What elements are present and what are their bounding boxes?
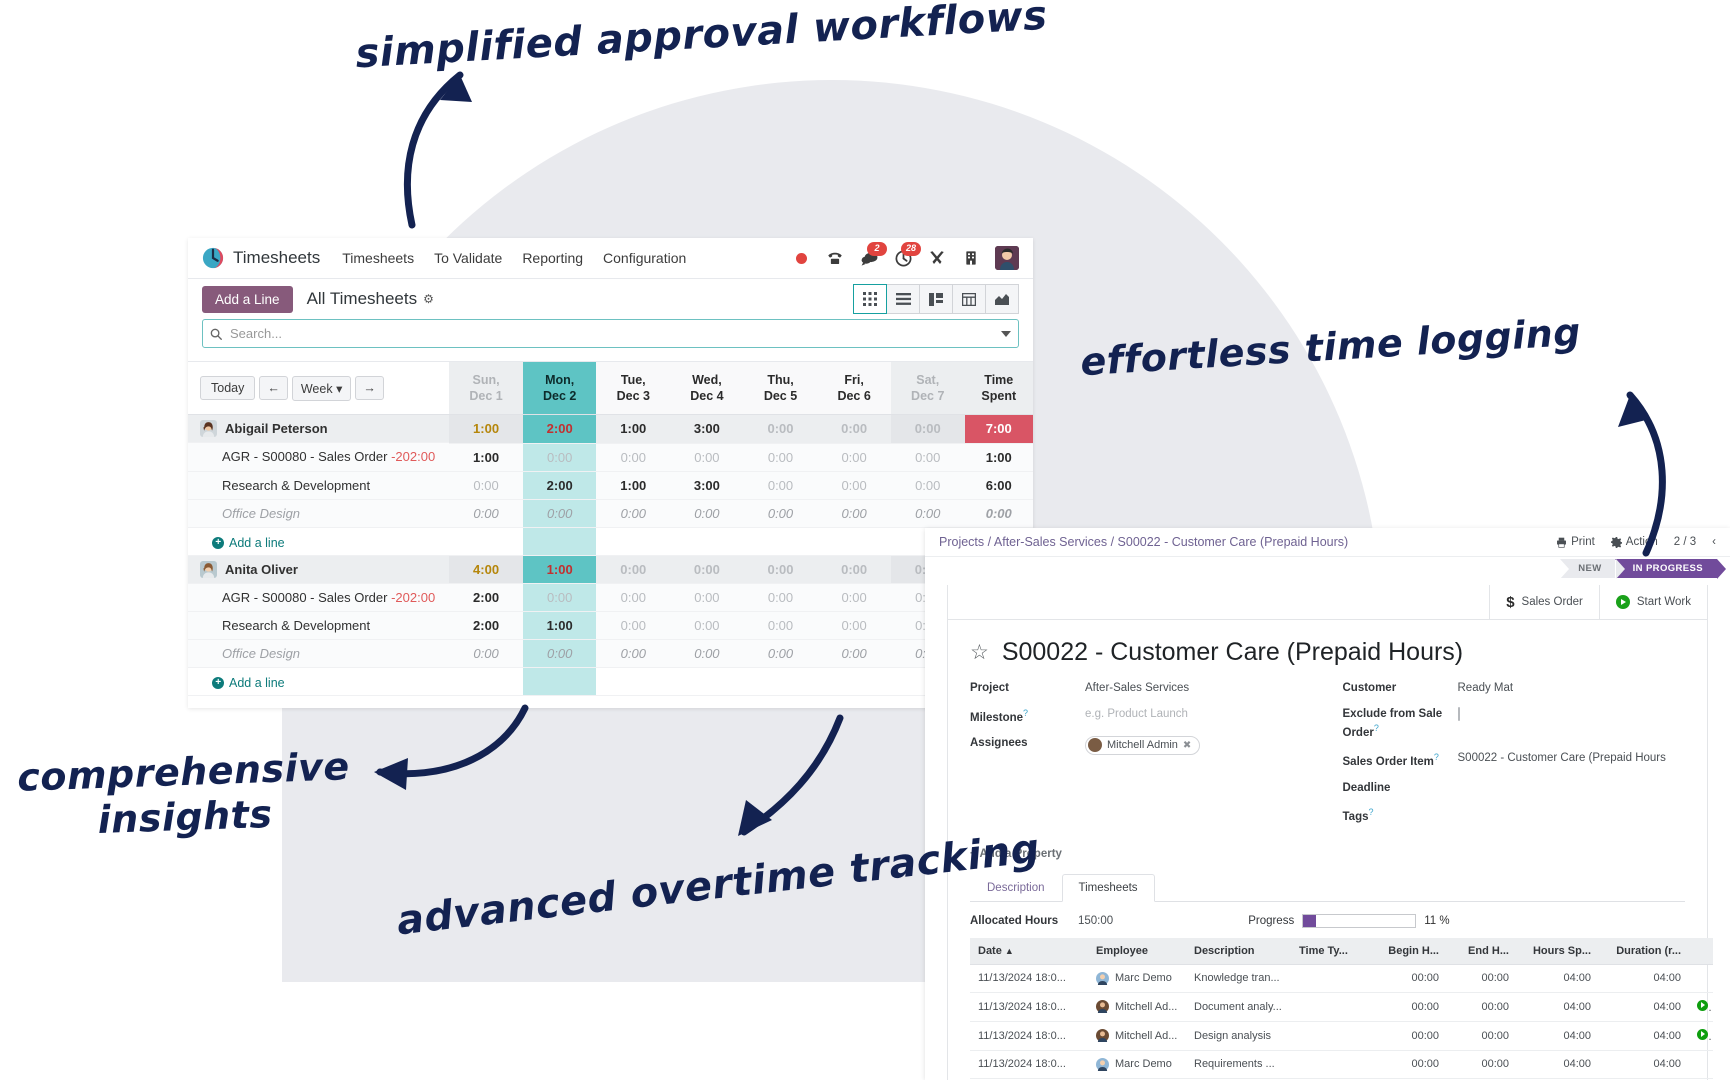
cell-end-hour[interactable]: 00:00 <box>1447 1021 1517 1050</box>
grid-task-row[interactable]: AGR - S00080 - Sales Order -202:002:000:… <box>188 584 1033 612</box>
cell-begin-hour[interactable]: 00:00 <box>1369 964 1447 992</box>
user-avatar-icon[interactable] <box>995 246 1019 270</box>
grid-empty-cell <box>670 527 744 555</box>
column-header-thu[interactable]: Thu,Dec 5 <box>744 362 818 415</box>
phone-dialpad-icon[interactable] <box>825 248 845 268</box>
grid-hours-cell[interactable]: 0:00 <box>744 640 818 668</box>
task-remaining-hours: -202:00 <box>391 449 435 464</box>
pager-previous-icon[interactable]: ‹ <box>1712 536 1716 548</box>
timesheet-col-header[interactable]: End H... <box>1447 938 1517 965</box>
cell-duration[interactable]: 04:00 <box>1599 992 1689 1021</box>
chat-bubble-icon[interactable]: 2 <box>859 248 879 268</box>
grid-hours-cell[interactable]: 0:00 <box>817 443 891 471</box>
start-work-label: Start Work <box>1637 596 1691 608</box>
timesheet-col-header[interactable]: Hours Sp... <box>1517 938 1599 965</box>
field-label-sales-order-item: Sales Order Item? <box>1343 751 1458 770</box>
grid-hours-cell[interactable]: 0:00 <box>449 499 523 527</box>
cell-description[interactable]: Knowledge tran... <box>1186 964 1291 992</box>
grid-hours-cell[interactable]: 0:00 <box>817 471 891 499</box>
grid-hours-cell[interactable]: 1:00 <box>449 415 523 444</box>
grid-hours-cell[interactable]: 0:00 <box>817 499 891 527</box>
building-icon[interactable] <box>961 248 981 268</box>
grid-empty-cell <box>523 527 597 555</box>
cell-time-type[interactable] <box>1291 992 1369 1021</box>
sales-order-button[interactable]: $ Sales Order <box>1489 585 1599 619</box>
employee-avatar-icon <box>1096 1000 1109 1013</box>
cell-time-type[interactable] <box>1291 1050 1369 1078</box>
list-view-button[interactable] <box>887 284 920 314</box>
form-sheet: $ Sales Order Start Work ☆ S00022 - Cust… <box>947 585 1708 1080</box>
field-label-project: Project <box>970 681 1085 697</box>
cell-end-hour[interactable]: 00:00 <box>1447 1050 1517 1078</box>
grid-empty-cell <box>523 668 597 696</box>
grid-hours-cell[interactable]: 0:00 <box>523 499 597 527</box>
nav-item-to-validate[interactable]: To Validate <box>434 250 502 266</box>
grid-hours-cell[interactable]: 3:00 <box>670 471 744 499</box>
column-header-fri[interactable]: Fri,Dec 6 <box>817 362 891 415</box>
assignee-tag[interactable]: Mitchell Admin ✖ <box>1085 736 1200 755</box>
grid-empty-cell <box>817 668 891 696</box>
grid-empty-cell <box>596 527 670 555</box>
grid-empty-cell <box>449 527 523 555</box>
nav-item-configuration[interactable]: Configuration <box>603 250 686 266</box>
grid-task-row[interactable]: AGR - S00080 - Sales Order -202:001:000:… <box>188 443 1033 471</box>
grid-hours-cell[interactable]: 0:00 <box>596 555 670 584</box>
grid-hours-cell[interactable]: 4:00 <box>449 555 523 584</box>
grid-hours-cell[interactable]: 0:00 <box>817 415 891 444</box>
activity-clock-icon[interactable]: 28 <box>893 248 913 268</box>
grid-total-cell: 1:00 <box>965 443 1033 471</box>
timesheet-col-header[interactable]: Date▲ <box>970 938 1088 965</box>
grid-add-a-line-row[interactable]: +Add a line <box>188 527 1033 555</box>
allocated-hours-value[interactable]: 150:00 <box>1078 915 1113 927</box>
help-icon[interactable]: ? <box>1374 723 1379 733</box>
nav-item-reporting[interactable]: Reporting <box>522 250 583 266</box>
start-work-button[interactable]: Start Work <box>1599 585 1707 619</box>
table-row[interactable]: 11/13/2024 18:0...Marc DemoRequirements … <box>970 1050 1713 1078</box>
grid-total-cell: 7:00 <box>965 415 1033 444</box>
timesheet-col-header[interactable] <box>1689 938 1713 965</box>
control-panel: Add a Line All Timesheets ⚙ <box>188 279 1033 319</box>
print-label: Print <box>1571 536 1595 548</box>
cell-end-hour[interactable]: 00:00 <box>1447 992 1517 1021</box>
annotation-comprehensive-insights: comprehensive insights <box>17 744 352 845</box>
page-title: S00022 - Customer Care (Prepaid Hours) <box>1002 638 1463 667</box>
grid-total-cell: 6:00 <box>965 471 1033 499</box>
grid-employee-name-cell[interactable]: Abigail Peterson <box>188 415 449 443</box>
progress-label: Progress <box>1248 915 1294 927</box>
grid-task-name-cell[interactable]: AGR - S00080 - Sales Order -202:00 <box>188 443 449 471</box>
cell-end-hour[interactable]: 00:00 <box>1447 964 1517 992</box>
app-brand-name: Timesheets <box>233 248 320 268</box>
favorite-star-icon[interactable]: ☆ <box>970 642 989 663</box>
cell-date[interactable]: 11/13/2024 18:0... <box>970 992 1088 1021</box>
grid-total-cell: 0:00 <box>965 499 1033 527</box>
exclude-checkbox[interactable] <box>1458 707 1460 721</box>
grid-hours-cell[interactable]: 0:00 <box>891 471 965 499</box>
sales-order-label: Sales Order <box>1522 596 1583 608</box>
help-icon[interactable]: ? <box>1369 807 1374 817</box>
arrow-to-time-logging <box>1600 385 1710 565</box>
grid-hours-cell[interactable]: 0:00 <box>670 640 744 668</box>
cell-begin-hour[interactable]: 00:00 <box>1369 992 1447 1021</box>
timesheet-col-header[interactable]: Time Ty... <box>1291 938 1369 965</box>
cell-timer[interactable] <box>1689 1050 1713 1078</box>
field-label-deadline: Deadline <box>1343 781 1458 797</box>
grid-hours-cell[interactable]: 3:00 <box>670 415 744 444</box>
field-label-exclude-from-sale-order: Exclude from Sale Order? <box>1343 707 1458 742</box>
employee-avatar-icon <box>1096 1058 1109 1071</box>
timesheet-col-header[interactable]: Description <box>1186 938 1291 965</box>
odoo-timesheets-logo-icon <box>202 247 224 269</box>
grid-hours-cell[interactable]: 1:00 <box>523 612 597 640</box>
grid-task-row[interactable]: Office Design0:000:000:000:000:000:000:0… <box>188 499 1033 527</box>
gear-icon[interactable]: ⚙ <box>423 292 434 306</box>
field-exclude-from-sale-order: Exclude from Sale Order? <box>1343 707 1686 742</box>
tab-timesheets[interactable]: Timesheets <box>1062 874 1155 902</box>
record-dot-icon[interactable] <box>791 248 811 268</box>
cell-description[interactable]: Design analysis <box>1186 1021 1291 1050</box>
task-name: Office Design <box>222 646 300 661</box>
cell-begin-hour[interactable]: 00:00 <box>1369 1050 1447 1078</box>
dollar-icon: $ <box>1506 594 1514 611</box>
cell-description[interactable]: Document analy... <box>1186 992 1291 1021</box>
grid-task-name-cell[interactable]: AGR - S00080 - Sales Order -202:00 <box>188 584 449 612</box>
grid-hours-cell[interactable]: 0:00 <box>670 555 744 584</box>
allocated-hours-row: Allocated Hours 150:00 Progress 11 % <box>970 902 1685 938</box>
nav-item-timesheets[interactable]: Timesheets <box>342 250 414 266</box>
employee-avatar-icon <box>1096 1029 1109 1042</box>
grid-hours-cell[interactable]: 0:00 <box>744 443 818 471</box>
search-icon <box>210 328 222 340</box>
cell-employee[interactable]: Marc Demo <box>1088 964 1186 992</box>
grid-hours-cell[interactable]: 1:00 <box>449 443 523 471</box>
employee-avatar-icon <box>1096 972 1109 985</box>
grid-hours-cell[interactable]: 0:00 <box>744 471 818 499</box>
grid-hours-cell[interactable]: 0:00 <box>523 640 597 668</box>
task-name: Research & Development <box>222 478 370 493</box>
grid-view-button[interactable] <box>853 284 887 314</box>
grid-hours-cell[interactable]: 0:00 <box>596 443 670 471</box>
grid-empty-cell <box>596 668 670 696</box>
activity-badge-count: 28 <box>901 242 921 256</box>
task-remaining-hours: -202:00 <box>391 590 435 605</box>
grid-hours-cell[interactable]: 0:00 <box>744 415 818 444</box>
project-form-window: Projects / After-Sales Services / S00022… <box>925 528 1730 1080</box>
kanban-view-button[interactable] <box>920 284 953 314</box>
cell-employee[interactable]: Marc Demo <box>1088 1050 1186 1078</box>
chat-badge-count: 2 <box>867 242 887 256</box>
cell-employee[interactable]: Mitchell Ad... <box>1088 1021 1186 1050</box>
grid-hours-cell[interactable]: 0:00 <box>449 640 523 668</box>
allocated-hours-label: Allocated Hours <box>970 915 1078 927</box>
progress-bar <box>1302 914 1416 928</box>
play-icon[interactable] <box>1697 1029 1708 1040</box>
cell-date[interactable]: 11/13/2024 18:0... <box>970 964 1088 992</box>
grid-hours-cell[interactable]: 0:00 <box>670 612 744 640</box>
add-a-line-button[interactable]: Add a Line <box>202 286 293 313</box>
cell-date[interactable]: 11/13/2024 18:0... <box>970 1050 1088 1078</box>
field-customer: Customer Ready Mat <box>1343 681 1686 697</box>
employee-name: Anita Oliver <box>225 562 298 577</box>
column-header-tue[interactable]: Tue,Dec 3 <box>596 362 670 415</box>
grid-hours-cell[interactable]: 0:00 <box>817 584 891 612</box>
timesheet-col-header[interactable]: Employee <box>1088 938 1186 965</box>
grid-add-a-line-row[interactable]: +Add a line <box>188 668 1033 696</box>
field-assignees: Assignees Mitchell Admin ✖ <box>970 736 1313 758</box>
field-value-project[interactable]: After-Sales Services <box>1085 681 1189 697</box>
grid-task-name-cell[interactable]: Office Design <box>188 640 449 668</box>
timesheet-grid: Today ← Week ▾ → Sun,Dec 1 Mon,Dec 2 Tue… <box>188 361 1033 696</box>
column-header-time-spent: TimeSpent <box>965 362 1033 415</box>
grid-hours-cell[interactable]: 0:00 <box>670 443 744 471</box>
add-a-line-link[interactable]: +Add a line <box>200 536 285 550</box>
grid-task-row[interactable]: Office Design0:000:000:000:000:000:000:0… <box>188 640 1033 668</box>
task-name: AGR - S00080 - Sales Order <box>222 590 387 605</box>
column-header-mon[interactable]: Mon,Dec 2 <box>523 362 597 415</box>
previous-period-button[interactable]: ← <box>259 376 288 400</box>
table-row[interactable]: 11/13/2024 18:0...Mitchell Ad...Design a… <box>970 1021 1713 1050</box>
graph-view-button[interactable] <box>986 284 1019 314</box>
period-scale-dropdown[interactable]: Week ▾ <box>292 376 351 401</box>
field-deadline: Deadline <box>1343 781 1686 797</box>
cell-date[interactable]: 11/13/2024 18:0... <box>970 1021 1088 1050</box>
arrow-to-insights <box>360 700 540 810</box>
cell-duration[interactable]: 04:00 <box>1599 964 1689 992</box>
task-name: AGR - S00080 - Sales Order <box>222 449 387 464</box>
grid-employee-row[interactable]: Anita Oliver4:001:000:000:000:000:000:00 <box>188 555 1033 584</box>
field-value-exclude[interactable] <box>1458 707 1460 723</box>
column-header-sat[interactable]: Sat,Dec 7 <box>891 362 965 415</box>
grid-hours-cell[interactable]: 1:00 <box>596 471 670 499</box>
timesheets-window: Timesheets Timesheets To Validate Report… <box>188 238 1033 708</box>
cell-timer[interactable] <box>1689 964 1713 992</box>
grid-hours-cell[interactable]: 0:00 <box>891 415 965 444</box>
remove-tag-icon[interactable]: ✖ <box>1183 739 1191 753</box>
grid-empty-cell <box>817 527 891 555</box>
cell-employee[interactable]: Mitchell Ad... <box>1088 992 1186 1021</box>
task-name: Office Design <box>222 506 300 521</box>
field-value-assignees[interactable]: Mitchell Admin ✖ <box>1085 736 1200 758</box>
grid-hours-cell[interactable]: 0:00 <box>523 584 597 612</box>
notebook-tabs: Description Timesheets <box>970 874 1685 902</box>
search-input[interactable] <box>228 325 1001 342</box>
field-label-assignees: Assignees <box>970 736 1085 752</box>
table-row[interactable]: 11/13/2024 18:0...Mitchell Ad...Document… <box>970 992 1713 1021</box>
grid-hours-cell[interactable]: 0:00 <box>817 612 891 640</box>
cell-time-type[interactable] <box>1291 964 1369 992</box>
field-label-tags: Tags? <box>1343 806 1458 825</box>
cell-hours-spent[interactable]: 04:00 <box>1517 964 1599 992</box>
form-body: ☆ S00022 - Customer Care (Prepaid Hours)… <box>948 620 1707 1080</box>
column-header-sun[interactable]: Sun,Dec 1 <box>449 362 523 415</box>
cell-timer[interactable] <box>1689 1021 1713 1050</box>
grid-hours-cell[interactable]: 0:00 <box>596 640 670 668</box>
timesheet-col-header[interactable]: Begin H... <box>1369 938 1447 965</box>
grid-add-a-line-cell[interactable]: +Add a line <box>188 668 449 696</box>
grid-hours-cell[interactable]: 2:00 <box>449 612 523 640</box>
grid-hours-cell[interactable]: 0:00 <box>670 584 744 612</box>
field-value-sales-order-item[interactable]: S00022 - Customer Care (Prepaid Hours <box>1458 751 1666 767</box>
sort-ascending-icon: ▲ <box>1005 946 1014 956</box>
tools-icon[interactable] <box>927 248 947 268</box>
grid-header-row: Today ← Week ▾ → Sun,Dec 1 Mon,Dec 2 Tue… <box>188 362 1033 415</box>
arrow-to-overtime <box>700 710 860 860</box>
grid-hours-cell[interactable]: 0:00 <box>744 584 818 612</box>
plus-circle-icon: + <box>212 677 224 689</box>
grid-hours-cell[interactable]: 0:00 <box>891 443 965 471</box>
project-breadcrumb[interactable]: Projects / After-Sales Services / S00022… <box>939 535 1348 549</box>
chevron-down-icon[interactable] <box>1001 331 1011 337</box>
assignee-avatar-icon <box>1088 738 1102 752</box>
grid-task-name-cell[interactable]: Office Design <box>188 499 449 527</box>
grid-hours-cell[interactable]: 0:00 <box>670 499 744 527</box>
play-icon[interactable] <box>1697 1000 1708 1011</box>
pivot-view-button[interactable] <box>953 284 986 314</box>
employee-name: Abigail Peterson <box>225 421 328 436</box>
column-header-wed[interactable]: Wed,Dec 4 <box>670 362 744 415</box>
grid-hours-cell[interactable]: 0:00 <box>744 612 818 640</box>
grid-hours-cell[interactable]: 0:00 <box>449 471 523 499</box>
grid-empty-cell <box>744 527 818 555</box>
progress-percent: 11 % <box>1424 915 1449 927</box>
play-icon <box>1616 595 1630 609</box>
table-row[interactable]: 11/13/2024 18:0...Marc DemoKnowledge tra… <box>970 964 1713 992</box>
grid-hours-cell[interactable]: 2:00 <box>523 415 597 444</box>
grid-hours-cell[interactable]: 0:00 <box>596 584 670 612</box>
grid-hours-cell[interactable]: 0:00 <box>891 499 965 527</box>
task-name: Research & Development <box>222 618 370 633</box>
grid-empty-cell <box>670 668 744 696</box>
field-tags: Tags? <box>1343 806 1686 825</box>
view-switcher <box>853 284 1019 314</box>
grid-employee-row[interactable]: Abigail Peterson1:002:001:003:000:000:00… <box>188 415 1033 444</box>
cell-description[interactable]: Requirements ... <box>1186 1050 1291 1078</box>
grid-hours-cell[interactable]: 0:00 <box>744 499 818 527</box>
employee-avatar-icon <box>200 420 217 437</box>
breadcrumb: All Timesheets ⚙ <box>307 289 434 309</box>
grid-empty-cell <box>449 668 523 696</box>
grid-employee-name-cell[interactable]: Anita Oliver <box>188 556 449 584</box>
grid-hours-cell[interactable]: 1:00 <box>523 555 597 584</box>
cell-duration[interactable]: 04:00 <box>1599 1050 1689 1078</box>
cell-duration[interactable]: 04:00 <box>1599 1021 1689 1050</box>
field-milestone: Milestone? e.g. Product Launch <box>970 707 1313 726</box>
print-button[interactable]: Print <box>1556 536 1595 548</box>
grid-hours-cell[interactable]: 0:00 <box>817 640 891 668</box>
employee-avatar-icon <box>200 561 217 578</box>
add-a-property-button[interactable]: + Add a Property <box>970 848 1685 860</box>
today-button[interactable]: Today <box>200 376 255 400</box>
grid-hours-cell[interactable]: 0:00 <box>744 555 818 584</box>
grid-hours-cell[interactable]: 2:00 <box>523 471 597 499</box>
grid-hours-cell[interactable]: 2:00 <box>449 584 523 612</box>
cell-time-type[interactable] <box>1291 1021 1369 1050</box>
cell-hours-spent[interactable]: 04:00 <box>1517 992 1599 1021</box>
grid-hours-cell[interactable]: 0:00 <box>596 499 670 527</box>
search-bar[interactable] <box>202 319 1019 348</box>
timesheet-col-header[interactable]: Duration (r... <box>1599 938 1689 965</box>
field-project: Project After-Sales Services <box>970 681 1313 697</box>
grid-hours-cell[interactable]: 1:00 <box>596 415 670 444</box>
next-period-button[interactable]: → <box>355 376 384 400</box>
grid-hours-cell[interactable]: 0:00 <box>596 612 670 640</box>
help-icon[interactable]: ? <box>1023 708 1028 718</box>
grid-task-name-cell[interactable]: Research & Development <box>188 612 449 640</box>
cell-begin-hour[interactable]: 00:00 <box>1369 1021 1447 1050</box>
grid-task-name-cell[interactable]: Research & Development <box>188 471 449 499</box>
arrow-to-approval <box>390 60 510 240</box>
form-column-right: Customer Ready Mat Exclude from Sale Ord… <box>1313 681 1686 836</box>
timesheet-lines-table: Date▲EmployeeDescriptionTime Ty...Begin … <box>970 938 1713 1079</box>
form-column-left: Project After-Sales Services Milestone? … <box>970 681 1313 836</box>
grid-task-row[interactable]: Research & Development2:001:000:000:000:… <box>188 612 1033 640</box>
help-icon[interactable]: ? <box>1434 752 1439 762</box>
navbar-systray: 2 28 <box>791 246 1019 270</box>
field-value-customer[interactable]: Ready Mat <box>1458 681 1514 697</box>
plus-circle-icon: + <box>212 537 224 549</box>
grid-date-navigation: Today ← Week ▾ → <box>188 362 449 415</box>
grid-add-a-line-cell[interactable]: +Add a line <box>188 527 449 555</box>
breadcrumb-label: All Timesheets <box>307 289 418 309</box>
field-sales-order-item: Sales Order Item? S00022 - Customer Care… <box>1343 751 1686 770</box>
grid-empty-cell <box>744 668 818 696</box>
field-value-milestone[interactable]: e.g. Product Launch <box>1085 707 1188 723</box>
app-navbar: Timesheets Timesheets To Validate Report… <box>188 238 1033 279</box>
stat-button-box: $ Sales Order Start Work <box>948 585 1707 620</box>
grid-task-row[interactable]: Research & Development0:002:001:003:000:… <box>188 471 1033 499</box>
cell-hours-spent[interactable]: 04:00 <box>1517 1050 1599 1078</box>
add-a-line-link[interactable]: +Add a line <box>200 676 285 690</box>
grid-hours-cell[interactable]: 0:00 <box>817 555 891 584</box>
field-label-milestone: Milestone? <box>970 707 1085 726</box>
grid-hours-cell[interactable]: 0:00 <box>523 443 597 471</box>
field-label-customer: Customer <box>1343 681 1458 697</box>
assignee-name: Mitchell Admin <box>1107 738 1178 753</box>
cell-hours-spent[interactable]: 04:00 <box>1517 1021 1599 1050</box>
timesheet-table-header: Date▲EmployeeDescriptionTime Ty...Begin … <box>970 938 1713 965</box>
cell-timer[interactable] <box>1689 992 1713 1021</box>
